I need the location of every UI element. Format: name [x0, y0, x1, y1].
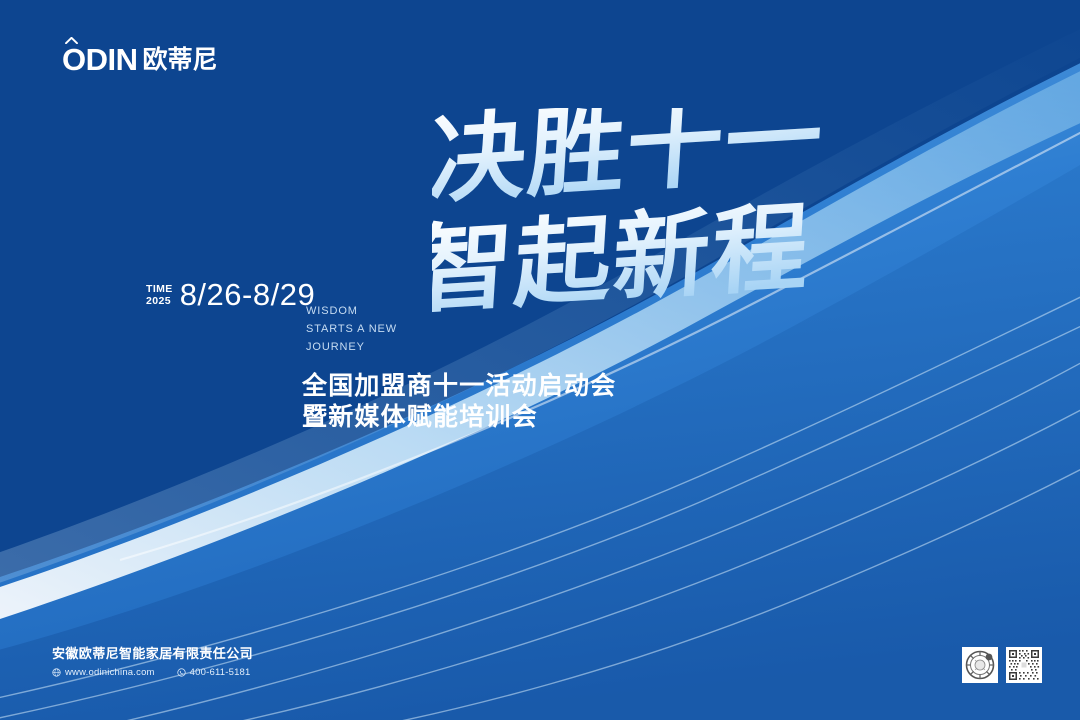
english-tagline: WISDOM STARTS A NEW JOURNEY: [306, 302, 397, 356]
tagline-line-2: STARTS A NEW: [306, 320, 397, 338]
brand-logo: ODIN 欧蒂尼: [62, 44, 218, 75]
circumflex-accent-icon: [65, 37, 78, 44]
qr-code-icon: [1008, 649, 1040, 681]
headline-svg: 决胜十一 智起新程: [432, 108, 912, 348]
phone-item[interactable]: 400-611-5181: [177, 667, 251, 678]
tagline-line-3: JOURNEY: [306, 338, 397, 356]
headline-calligraphy: 决胜十一 智起新程: [432, 108, 912, 348]
website-item[interactable]: www.odinichina.com: [52, 667, 155, 678]
event-subtitle: 全国加盟商十一活动启动会 暨新媒体赋能培训会: [302, 371, 616, 433]
contact-row: www.odinichina.com 400-611-5181: [52, 667, 253, 678]
headline-line-2: 智起新程: [432, 192, 814, 327]
date-label-year: 2025: [146, 296, 173, 308]
qr-code-group: [962, 647, 1042, 683]
event-date-label: TIME 2025: [146, 284, 173, 307]
circular-code-icon: [964, 649, 996, 681]
subtitle-line-1: 全国加盟商十一活动启动会: [302, 371, 616, 402]
logo-latin-text: ODIN: [62, 42, 138, 77]
website-qr-code[interactable]: [1006, 647, 1042, 683]
event-date-value: 8/26-8/29: [180, 279, 316, 311]
globe-icon: [52, 668, 61, 677]
wechat-official-account-qr[interactable]: [962, 647, 998, 683]
tagline-line-1: WISDOM: [306, 302, 397, 320]
poster-canvas: ODIN 欧蒂尼 决胜十一 智起新程 TIME 2025 8/26-8/29 W…: [0, 0, 1080, 720]
company-name: 安徽欧蒂尼智能家居有限责任公司: [52, 645, 253, 663]
date-label-time: TIME: [146, 284, 173, 296]
subtitle-line-2: 暨新媒体赋能培训会: [302, 402, 616, 433]
logo-wordmark-latin: ODIN: [62, 44, 138, 75]
logo-wordmark-chinese: 欧蒂尼: [143, 48, 218, 73]
phone-text: 400-611-5181: [190, 667, 251, 678]
website-text: www.odinichina.com: [65, 667, 155, 678]
footer-block: 安徽欧蒂尼智能家居有限责任公司 www.odinichina.com 400-6…: [52, 645, 253, 678]
event-date-block: TIME 2025 8/26-8/29: [146, 279, 315, 311]
phone-icon: [177, 668, 186, 677]
